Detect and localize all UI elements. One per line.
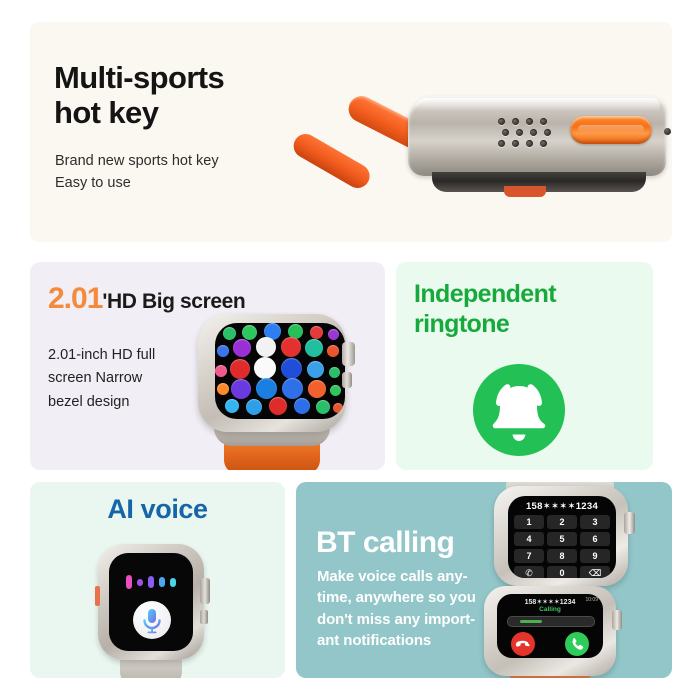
action-button-ai-icon xyxy=(95,586,100,606)
dialpad-key[interactable]: ⌫ xyxy=(580,566,610,578)
app-icon[interactable] xyxy=(256,337,276,357)
ringtone-title: Independent ringtone xyxy=(414,280,639,339)
dialpad-key[interactable]: 6 xyxy=(580,532,610,546)
speaker-hole xyxy=(498,140,505,147)
app-icon[interactable] xyxy=(310,326,323,339)
digital-crown-dial-icon xyxy=(624,512,635,534)
app-icon[interactable] xyxy=(217,345,229,357)
watch-front-view xyxy=(190,314,370,470)
app-icon[interactable] xyxy=(281,358,302,379)
speaker-hole xyxy=(512,118,519,125)
app-icon[interactable] xyxy=(329,367,340,378)
dialpad-key[interactable]: 0 xyxy=(547,566,577,578)
speaker-hole xyxy=(526,118,533,125)
dialpad-key[interactable]: 2 xyxy=(547,515,577,529)
dialpad-row: ✆0⌫ xyxy=(514,566,610,578)
watch-screen-dialpad: 158✶✶✶✶1234 123456789✆0⌫ xyxy=(508,496,616,578)
watch-ai-voice xyxy=(98,544,228,678)
ai-voice-title: AI voice xyxy=(30,494,285,525)
panel-independent-ringtone: Independent ringtone xyxy=(396,262,653,470)
watch-screen-calling: 10:09 158✶✶✶✶1234 Calling xyxy=(497,594,603,658)
app-icon[interactable] xyxy=(246,399,262,415)
voice-bar xyxy=(126,575,132,589)
calling-number: 158✶✶✶✶1234 xyxy=(497,598,603,606)
app-icon[interactable] xyxy=(327,345,339,357)
dialpad-key[interactable]: 9 xyxy=(580,549,610,563)
accept-call-button[interactable] xyxy=(565,632,589,656)
ringtone-title-line2: ringtone xyxy=(414,310,639,340)
dialpad-key[interactable]: 7 xyxy=(514,549,544,563)
watch-case-front xyxy=(198,314,346,432)
speaker-hole xyxy=(526,140,533,147)
app-icon[interactable] xyxy=(254,357,276,379)
app-icon[interactable] xyxy=(233,339,251,357)
watch-case-call: 10:09 158✶✶✶✶1234 Calling xyxy=(484,586,616,676)
watch-strap-connector xyxy=(504,186,546,197)
app-icon[interactable] xyxy=(333,403,343,413)
speaker-grille-icon xyxy=(498,118,554,150)
panel-multi-sports-hot-key: Multi-sports hot key Brand new sports ho… xyxy=(30,22,672,242)
bt-body-line1: Make voice calls any- xyxy=(317,566,517,587)
product-feature-page: Multi-sports hot key Brand new sports ho… xyxy=(0,0,700,700)
dialpad-key[interactable]: 5 xyxy=(547,532,577,546)
watch-case-ai xyxy=(98,544,204,660)
digital-crown-call-icon xyxy=(612,610,622,630)
app-icon[interactable] xyxy=(294,398,310,414)
digital-crown-ai-icon xyxy=(200,578,210,604)
app-icon[interactable] xyxy=(215,365,227,377)
side-button-ai-icon xyxy=(200,610,208,624)
voice-waveform-bars xyxy=(126,575,178,589)
call-status-text: Calling xyxy=(497,606,603,613)
decline-call-button[interactable] xyxy=(511,632,535,656)
watch-incoming-call: 10:09 158✶✶✶✶1234 Calling xyxy=(484,586,654,678)
ringtone-title-line1: Independent xyxy=(414,280,639,310)
app-icon[interactable] xyxy=(330,385,341,396)
phone-decline-icon xyxy=(511,632,535,656)
voice-bar xyxy=(159,577,165,587)
app-icon[interactable] xyxy=(282,378,303,399)
watch-dialpad: 158✶✶✶✶1234 123456789✆0⌫ xyxy=(494,486,654,590)
app-icon[interactable] xyxy=(256,378,277,399)
speaker-hole xyxy=(544,129,551,136)
dialpad-key[interactable]: 4 xyxy=(514,532,544,546)
bt-calling-title: BT calling xyxy=(316,526,454,560)
dialpad-row: 789 xyxy=(514,549,610,563)
speaker-hole xyxy=(540,118,547,125)
app-icon[interactable] xyxy=(316,400,330,414)
app-icon[interactable] xyxy=(269,397,287,415)
app-icon[interactable] xyxy=(307,361,324,378)
hd-title: 2.01'HD Big screen xyxy=(48,282,245,316)
speaker-hole xyxy=(512,140,519,147)
panel-ai-voice: AI voice xyxy=(30,482,285,678)
microphone-hole-icon xyxy=(664,128,671,135)
watch-case-highlight xyxy=(414,98,660,111)
app-icon[interactable] xyxy=(225,399,239,413)
app-icon[interactable] xyxy=(223,327,236,340)
action-button-orange xyxy=(570,116,652,144)
app-icon-grid xyxy=(215,323,345,419)
voice-bar xyxy=(170,578,176,587)
dialpad-key[interactable]: 3 xyxy=(580,515,610,529)
panel-hd-big-screen: 2.01'HD Big screen 2.01-inch HD full scr… xyxy=(30,262,385,470)
speaker-hole xyxy=(498,118,505,125)
side-button-icon xyxy=(342,372,352,388)
phone-accept-icon xyxy=(565,632,589,656)
app-icon[interactable] xyxy=(308,380,326,398)
digital-crown-icon xyxy=(342,342,355,366)
bell-icon xyxy=(473,364,565,456)
dialpad-key[interactable]: 8 xyxy=(547,549,577,563)
microphone-icon xyxy=(133,601,171,639)
watch-screen-ai-voice xyxy=(109,553,193,651)
hd-title-rest: 'HD Big screen xyxy=(102,290,245,313)
dialpad-key[interactable]: 1 xyxy=(514,515,544,529)
app-icon[interactable] xyxy=(230,359,250,379)
watch-side-view xyxy=(358,74,672,242)
speaker-hole xyxy=(540,140,547,147)
microphone-icon-glyph xyxy=(133,601,171,639)
app-icon[interactable] xyxy=(217,383,229,395)
app-icon[interactable] xyxy=(242,325,257,340)
volume-slider[interactable] xyxy=(507,616,595,627)
panel-bt-calling: BT calling Make voice calls any- time, a… xyxy=(296,482,672,678)
dialpad-key[interactable]: ✆ xyxy=(514,566,544,578)
app-icon[interactable] xyxy=(281,337,301,357)
bell-icon-glyph xyxy=(473,364,565,456)
watch-screen-app-grid xyxy=(215,323,345,419)
app-icon[interactable] xyxy=(231,379,251,399)
speaker-hole xyxy=(516,129,523,136)
dialpad-row: 123 xyxy=(514,515,610,529)
voice-bar xyxy=(137,579,143,586)
speaker-hole xyxy=(502,129,509,136)
speaker-hole xyxy=(530,129,537,136)
app-icon[interactable] xyxy=(328,329,339,340)
hero-sub-line2: Easy to use xyxy=(55,172,355,194)
app-icon[interactable] xyxy=(305,339,323,357)
dialpad-row: 456 xyxy=(514,532,610,546)
watch-case-dial: 158✶✶✶✶1234 123456789✆0⌫ xyxy=(494,486,628,586)
hero-title: Multi-sports hot key xyxy=(54,60,344,130)
dialpad-keys[interactable]: 123456789✆0⌫ xyxy=(514,515,610,578)
voice-bar xyxy=(148,576,154,588)
hero-title-line1: Multi-sports xyxy=(54,60,344,95)
hero-title-line2: hot key xyxy=(54,95,344,130)
hd-title-number: 2.01 xyxy=(48,282,102,315)
dialed-number: 158✶✶✶✶1234 xyxy=(508,501,616,512)
